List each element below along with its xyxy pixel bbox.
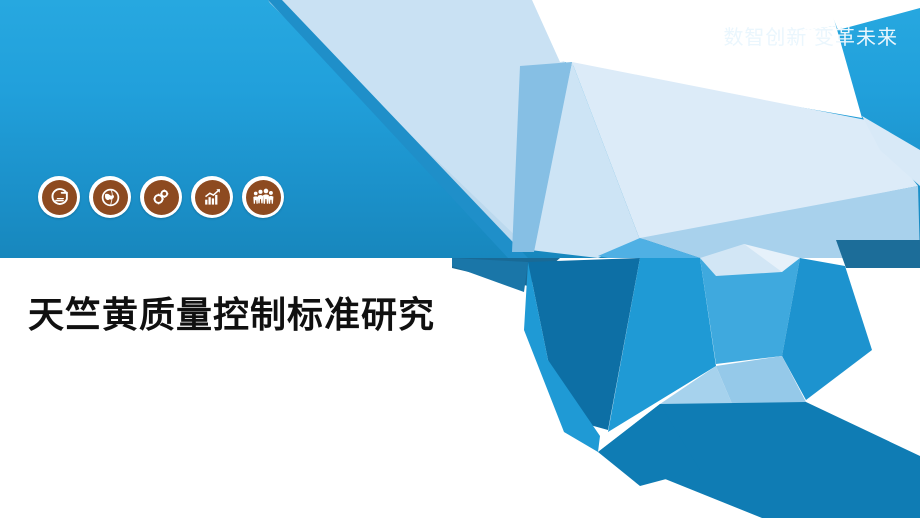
refresh-cycle-icon[interactable]: [38, 176, 80, 218]
presentation-title-slide: 数智创新 变革未来: [0, 0, 920, 518]
bar-chart-growth-icon-disc: [195, 180, 230, 215]
people-group-icon-disc: [246, 180, 281, 215]
gears-icon[interactable]: [140, 176, 182, 218]
people-group-icon[interactable]: [242, 176, 284, 218]
tagline-text: 数智创新 变革未来: [723, 28, 898, 48]
low-poly-geometric-artwork: [0, 0, 920, 518]
poly-navy-ledge-right: [836, 240, 920, 268]
globe-icon[interactable]: [89, 176, 131, 218]
refresh-cycle-icon-disc: [42, 180, 77, 215]
poly-lower-left-divider: [452, 258, 528, 292]
icon-row: [38, 176, 284, 218]
globe-icon-disc: [93, 180, 128, 215]
page-title: 天竺黄质量控制标准研究: [28, 295, 435, 336]
bar-chart-growth-icon[interactable]: [191, 176, 233, 218]
gears-icon-disc: [144, 180, 179, 215]
poly-top-right-white-corner: [826, 0, 920, 30]
